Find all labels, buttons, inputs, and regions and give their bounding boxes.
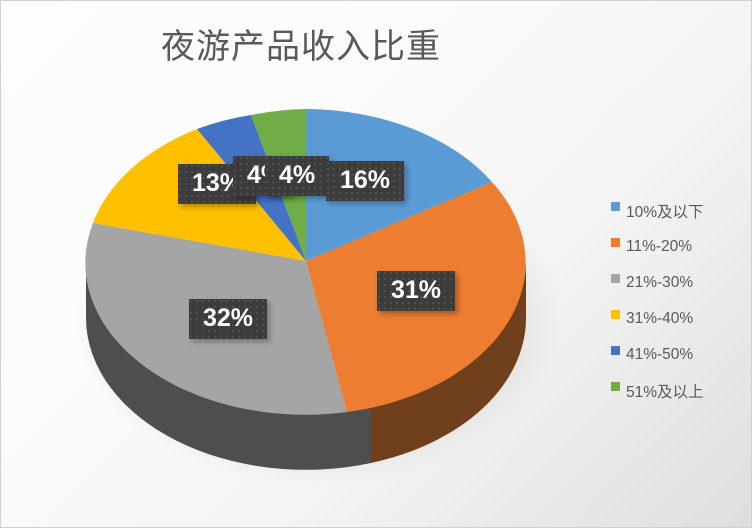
pie-chart-canvas: 夜游产品收入比重	[0, 0, 752, 528]
pie-svg	[1, 1, 621, 527]
chart-legend: 10%及以下 11%-20% 21%-30% 31%-40% 41%-50% 5…	[611, 193, 751, 409]
legend-item-10-and-below[interactable]: 10%及以下	[611, 193, 751, 229]
slice-label-32: 32%	[189, 299, 267, 339]
legend-swatch-icon	[611, 274, 620, 283]
legend-label: 51%及以上	[626, 380, 704, 402]
legend-swatch-icon	[611, 202, 620, 211]
legend-label: 21%-30%	[626, 274, 693, 292]
pie-plot-area: 13% 4% 4% 16% 31% 32%	[1, 1, 621, 527]
legend-swatch-icon	[611, 382, 620, 391]
legend-swatch-icon	[611, 238, 620, 247]
legend-label: 41%-50%	[626, 346, 693, 364]
legend-item-51-and-above[interactable]: 51%及以上	[611, 373, 751, 409]
slice-label-16: 16%	[326, 161, 404, 201]
slice-label-31: 31%	[377, 271, 455, 311]
legend-label: 10%及以下	[626, 200, 704, 222]
legend-swatch-icon	[611, 310, 620, 319]
legend-label: 31%-40%	[626, 310, 693, 328]
slice-label-4b: 4%	[265, 156, 329, 196]
legend-label: 11%-20%	[626, 238, 692, 256]
legend-item-31-40[interactable]: 31%-40%	[611, 301, 751, 337]
legend-item-21-30[interactable]: 21%-30%	[611, 265, 751, 301]
legend-item-41-50[interactable]: 41%-50%	[611, 337, 751, 373]
legend-swatch-icon	[611, 346, 620, 355]
legend-item-11-20[interactable]: 11%-20%	[611, 229, 751, 265]
